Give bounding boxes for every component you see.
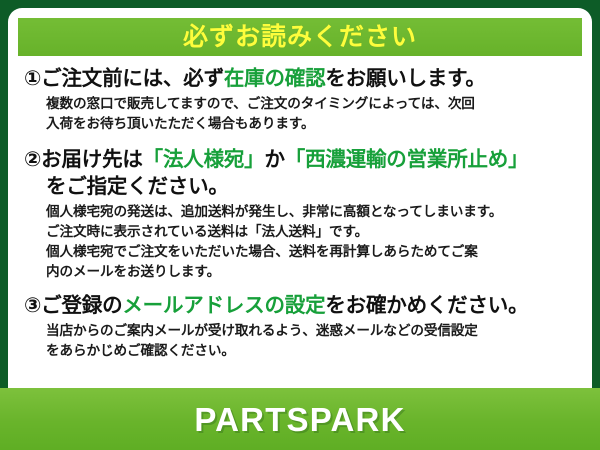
notice-item-2-detail: 個人様宅宛の発送は、追加送料が発生し、非常に高額となってしまいます。 ご注文時に…	[24, 202, 576, 282]
notice-item-1: ①ご注文前には、必ず在庫の確認をお願いします。 複数の窓口で販売してますので、ご…	[24, 65, 576, 134]
notice-item-3-detail-line-1: 当店からのご案内メールが受け取れるよう、迷惑メールなどの受信設定	[46, 321, 576, 341]
notice-frame: 必ずお読みください ①ご注文前には、必ず在庫の確認をお願いします。 複数の窓口で…	[0, 0, 600, 450]
footer-bar: PARTSPARK	[0, 388, 600, 450]
notice-item-1-detail: 複数の窓口で販売してますので、ご注文のタイミングによっては、次回 入荷をお待ち頂…	[24, 94, 576, 134]
notice-item-2-detail-line-1: 個人様宅宛の発送は、追加送料が発生し、非常に高額となってしまいます。	[46, 202, 576, 222]
notice-item-1-marker: ①	[24, 67, 41, 90]
notice-item-1-heading-part-3: をお願いします。	[325, 67, 485, 90]
notice-item-2-heading-part-3: か	[264, 148, 284, 171]
notice-item-3-marker: ③	[24, 294, 41, 317]
notice-body: ①ご注文前には、必ず在庫の確認をお願いします。 複数の窓口で販売してますので、ご…	[18, 56, 582, 361]
notice-item-3-heading: ③ご登録のメールアドレスの設定をお確かめください。	[24, 292, 576, 319]
notice-item-2-detail-line-2: ご注文時に表示されている送料は「法人送料」です。	[46, 222, 576, 242]
notice-item-2: ②お届け先は「法人様宛」か「西濃運輸の営業所止め」 をご指定ください。 個人様宅…	[24, 146, 576, 282]
notice-item-3-heading-highlight: メールアドレスの設定	[122, 294, 325, 317]
notice-item-1-heading-highlight: 在庫の確認	[224, 67, 326, 90]
notice-item-1-detail-line-2: 入荷をお待ち頂いたただく場合もあります。	[46, 114, 576, 134]
notice-item-3: ③ご登録のメールアドレスの設定をお確かめください。 当店からのご案内メールが受け…	[24, 292, 576, 361]
notice-item-3-detail-line-2: をあらかじめご確認ください。	[46, 341, 576, 361]
notice-item-2-heading-part-1: お届け先は	[41, 148, 143, 171]
notice-item-2-marker: ②	[24, 148, 41, 171]
notice-header-bar: 必ずお読みください	[18, 18, 582, 56]
notice-item-1-heading-part-1: ご注文前には、必ず	[41, 67, 224, 90]
notice-item-2-detail-line-3: 個人様宅宛でご注文をいただいた場合、送料を再計算しあらためてご案	[46, 242, 576, 262]
notice-item-2-heading-line-2: をご指定ください。	[24, 173, 576, 200]
brand-logo-text: PARTSPARK	[194, 403, 405, 436]
notice-item-2-detail-line-4: 内のメールをお送りします。	[46, 262, 576, 282]
notice-item-2-heading-highlight-2: 「西濃運輸の営業所止め」	[285, 148, 529, 171]
notice-item-3-detail: 当店からのご案内メールが受け取れるよう、迷惑メールなどの受信設定 をあらかじめご…	[24, 321, 576, 361]
notice-item-1-detail-line-1: 複数の窓口で販売してますので、ご注文のタイミングによっては、次回	[46, 94, 576, 114]
notice-item-3-heading-part-1: ご登録の	[41, 294, 122, 317]
notice-item-3-heading-part-3: をお確かめください。	[325, 294, 528, 317]
notice-item-2-heading: ②お届け先は「法人様宛」か「西濃運輸の営業所止め」	[24, 146, 576, 173]
notice-item-2-heading-highlight-1: 「法人様宛」	[143, 148, 265, 171]
notice-card: 必ずお読みください ①ご注文前には、必ず在庫の確認をお願いします。 複数の窓口で…	[8, 8, 592, 398]
notice-item-1-heading: ①ご注文前には、必ず在庫の確認をお願いします。	[24, 65, 576, 92]
page-title: 必ずお読みください	[183, 25, 417, 50]
